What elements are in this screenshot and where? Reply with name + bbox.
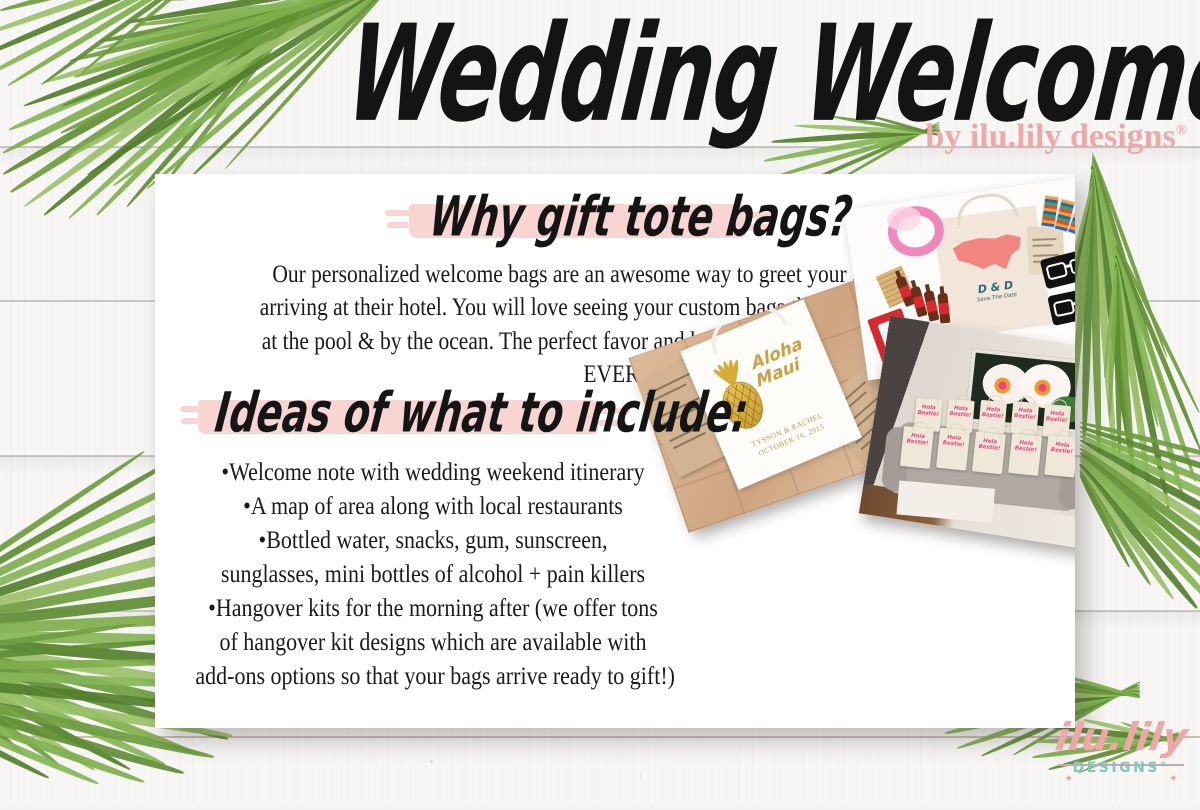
header: Wedding Welcome Bags by ilu.lily designs… [355, 14, 1195, 134]
list-item: of hangover kit designs which are availa… [195, 626, 670, 660]
usa-map-icon [949, 229, 1028, 281]
bag-text: Hola Bestie! [981, 407, 1004, 420]
logo-designs-text: DESIGNS® [1056, 760, 1186, 776]
list-item: •Hangover kits for the morning after (we… [195, 592, 670, 626]
welcome-bag: Hola Bestie! [900, 426, 934, 469]
bag-text: Hola Bestie! [1049, 442, 1075, 456]
couch-gift-bags-photo: Hola Bestie! Hola Bestie! Hola Bestie! H… [859, 316, 1075, 553]
bag-text: Hola Bestie! [904, 433, 931, 447]
list-item: •Welcome note with wedding weekend itine… [195, 456, 670, 490]
bag-text: Hola Bestie! [976, 439, 1003, 453]
tote-monogram: D & D Save The Date [960, 277, 1032, 306]
bag-text: Hola Bestie! [1012, 440, 1039, 454]
bag-text: Hola Bestie! [940, 435, 967, 449]
section-heading-2: Ideas of what to include: [180, 386, 660, 448]
content-card: Why gift tote bags? Our personalized wel… [155, 174, 1075, 728]
heading-1-text: Why gift tote bags? [381, 181, 788, 250]
wood-speck [430, 760, 433, 763]
logo-designs-label: DESIGNS [1073, 760, 1160, 776]
brand-subtitle-text: by ilu.lily designs [925, 118, 1175, 155]
bag-text: Hola Bestie! [949, 406, 972, 419]
welcome-bag: Hola Bestie! [936, 428, 970, 471]
welcome-bag: Hola Bestie! [1008, 433, 1042, 476]
logo-script-text: ilu.lily [1054, 720, 1189, 754]
brand-subtitle: by ilu.lily designs® [925, 118, 1187, 156]
plank-seam [0, 736, 1200, 738]
bag-text: Hola Bestie! [917, 405, 940, 418]
bag-text: Hola Bestie! [1046, 411, 1069, 424]
list-item: •Bottled water, snacks, gum, sunscreen, [195, 524, 670, 558]
list-item: •A map of area along with local restaura… [195, 490, 670, 524]
list-item: sunglasses, mini bottles of alcohol + pa… [195, 558, 670, 592]
wood-speck [640, 775, 642, 777]
ilulily-logo: ilu.lily ✦ ✦ DESIGNS® [1056, 720, 1186, 796]
ideas-list: •Welcome note with wedding weekend itine… [195, 456, 670, 694]
registered-mark-icon: ® [1176, 123, 1187, 139]
photo-content: Hola Bestie! Hola Bestie! Hola Bestie! H… [859, 316, 1075, 553]
bag-text: Hola Bestie! [1014, 408, 1037, 421]
registered-mark-icon: ® [1160, 761, 1170, 769]
tote-script-text: Aloha Maui [750, 336, 809, 392]
heading-2-text: Ideas of what to include: [176, 377, 640, 446]
welcome-bag: Hola Bestie! [972, 431, 1006, 474]
section-heading-1: Why gift tote bags? [385, 190, 805, 252]
list-item: add-ons options so that your bags arrive… [195, 660, 670, 694]
welcome-bag: Hola Bestie! [1044, 435, 1075, 478]
wood-speck [1130, 400, 1132, 402]
